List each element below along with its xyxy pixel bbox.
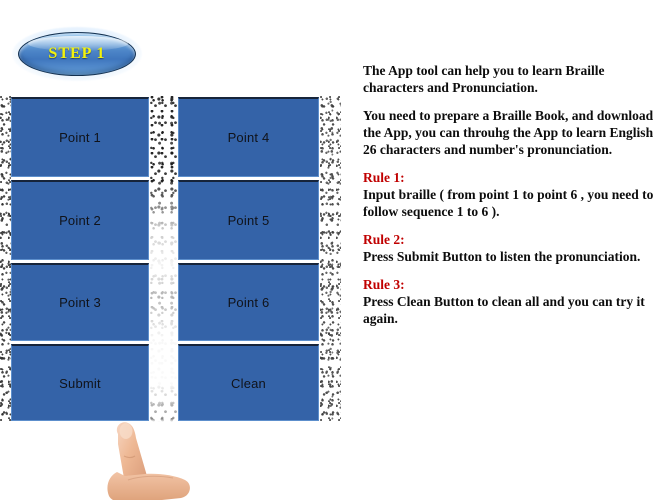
rule-2-body: Press Submit Button to listen the pronun…: [363, 248, 659, 265]
step-badge-label: STEP 1: [48, 45, 105, 63]
instructions-panel: The App tool can help you to learn Brail…: [363, 62, 659, 338]
braille-input-panel: Point 1 Point 4 Point 2 Point 5 Point 3 …: [0, 96, 341, 422]
rule-1-title: Rule 1:: [363, 169, 659, 186]
point-1-button[interactable]: Point 1: [11, 97, 149, 177]
clean-button[interactable]: Clean: [178, 344, 319, 421]
pointing-hand-icon: [95, 418, 200, 500]
scan-noise-left: [0, 96, 11, 422]
rule-2: Rule 2: Press Submit Button to listen th…: [363, 231, 659, 265]
submit-button[interactable]: Submit: [11, 344, 149, 421]
point-6-button[interactable]: Point 6: [178, 263, 319, 341]
rule-3: Rule 3: Press Clean Button to clean all …: [363, 276, 659, 327]
intro-paragraph-1: The App tool can help you to learn Brail…: [363, 62, 659, 96]
point-2-button[interactable]: Point 2: [11, 180, 149, 260]
point-4-button[interactable]: Point 4: [178, 97, 319, 177]
scan-noise-center: [150, 96, 178, 422]
step-badge-oval: STEP 1: [18, 32, 136, 76]
rule-1-body: Input braille ( from point 1 to point 6 …: [363, 186, 659, 220]
rule-3-title: Rule 3:: [363, 276, 659, 293]
rule-1: Rule 1: Input braille ( from point 1 to …: [363, 169, 659, 220]
rule-2-title: Rule 2:: [363, 231, 659, 248]
point-5-button[interactable]: Point 5: [178, 180, 319, 260]
scan-noise-right: [320, 96, 341, 422]
intro-paragraph-2: You need to prepare a Braille Book, and …: [363, 107, 659, 158]
rule-3-body: Press Clean Button to clean all and you …: [363, 293, 659, 327]
step-badge: STEP 1: [12, 27, 142, 81]
point-3-button[interactable]: Point 3: [11, 263, 149, 341]
app-screenshot: STEP 1 Point 1 Point 4 Point 2 Point 5 P…: [0, 0, 663, 500]
